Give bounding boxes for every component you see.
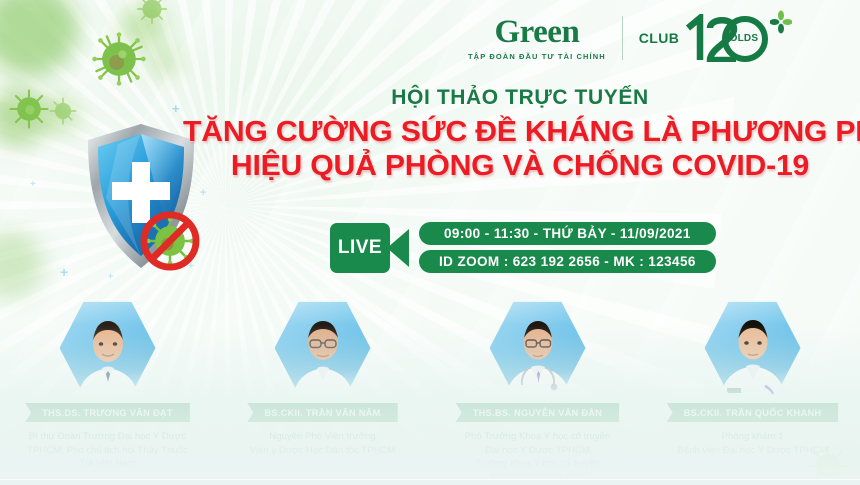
green-logo[interactable]: Green TẬP ĐOÀN ĐẦU TƯ TÀI CHÍNH	[468, 16, 606, 61]
footer-hairline	[0, 479, 860, 480]
live-badge: LIVE	[330, 223, 408, 273]
zoom-info-pill: ID ZOOM : 623 192 2656 - MK : 123456	[419, 250, 716, 273]
schedule-pill: 09:00 - 11:30 - THỨ BẢY - 11/09/2021	[419, 222, 716, 245]
club-word: CLUB	[639, 30, 679, 46]
leaf-cluster-icon	[770, 10, 792, 34]
green-logo-wordmark: Green	[494, 16, 579, 49]
plus-decoration-icon: +	[172, 102, 180, 115]
bottom-fade	[0, 325, 860, 485]
green-logo-tagline: TẬP ĐOÀN ĐẦU TƯ TÀI CHÍNH	[468, 52, 606, 61]
virus-icon	[135, 0, 169, 26]
live-camera-lens-icon	[387, 229, 409, 267]
plus-decoration-icon: +	[60, 265, 68, 279]
main-title-line-2: HIỆU QUẢ PHÒNG VÀ CHỐNG COVID-19	[183, 150, 857, 184]
plus-decoration-icon: +	[30, 180, 36, 190]
club120olds-logo[interactable]: CLUB OLDS	[639, 14, 768, 62]
club-number-graphic: OLDS	[682, 14, 768, 62]
header-logo-row: Green TẬP ĐOÀN ĐẦU TƯ TÀI CHÍNH CLUB OLD…	[468, 14, 768, 62]
blurred-green-blob	[148, 46, 182, 78]
main-title-line-1: TĂNG CƯỜNG SỨC ĐỀ KHÁNG LÀ PHƯƠNG PHÁP	[183, 116, 857, 150]
olds-word: OLDS	[730, 33, 759, 44]
no-virus-icon	[139, 210, 201, 272]
live-label: LIVE	[338, 237, 382, 259]
title-block: HỘI THẢO TRỰC TUYẾN TĂNG CƯỜNG SỨC ĐỀ KH…	[196, 86, 844, 183]
virus-icon	[8, 88, 50, 130]
webinar-main-title: TĂNG CƯỜNG SỨC ĐỀ KHÁNG LÀ PHƯƠNG PHÁP H…	[183, 116, 857, 183]
live-camera-icon: LIVE	[330, 223, 390, 273]
logo-divider	[622, 16, 623, 60]
virus-icon	[48, 96, 78, 126]
webinar-poster: + + + + + +	[0, 0, 860, 485]
info-pill-column: 09:00 - 11:30 - THỨ BẢY - 11/09/2021 ID …	[419, 222, 716, 273]
virus-icon	[90, 30, 148, 88]
live-info-row: LIVE 09:00 - 11:30 - THỨ BẢY - 11/09/202…	[330, 222, 716, 273]
webinar-subtitle: HỘI THẢO TRỰC TUYẾN	[196, 86, 844, 109]
